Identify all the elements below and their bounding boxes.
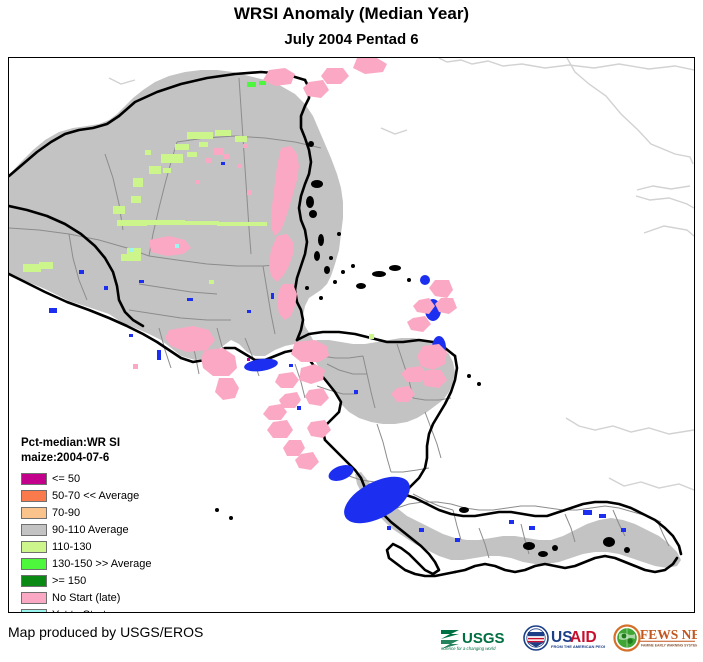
- legend-swatch-icon: [21, 592, 47, 604]
- usgs-logo[interactable]: USGS science for a changing world: [439, 624, 515, 652]
- legend-item[interactable]: Yet to Start: [21, 606, 211, 613]
- page-title: WRSI Anomaly (Median Year): [0, 4, 703, 24]
- legend-item-label: Yet to Start: [52, 609, 106, 614]
- usgs-logo-tagline: science for a changing world: [441, 646, 496, 651]
- legend-swatch-icon: [21, 541, 47, 553]
- map-page: WRSI Anomaly (Median Year) July 2004 Pen…: [0, 0, 703, 662]
- legend-item[interactable]: 130-150 >> Average: [21, 555, 211, 572]
- legend-item-label: >= 150: [52, 575, 86, 587]
- legend-swatch-icon: [21, 473, 47, 485]
- legend-title-line1: Pct-median:WR SI: [21, 436, 211, 451]
- legend-item[interactable]: 110-130: [21, 538, 211, 555]
- legend-item[interactable]: 50-70 << Average: [21, 487, 211, 504]
- legend-item[interactable]: No Start (late): [21, 589, 211, 606]
- fewsnet-globe-icon: [615, 626, 640, 651]
- legend-item[interactable]: <= 50: [21, 470, 211, 487]
- page-subtitle: July 2004 Pentad 6: [0, 31, 703, 48]
- legend-item-label: 110-130: [52, 541, 92, 553]
- legend-item-label: 90-110 Average: [52, 524, 129, 536]
- agency-logos: USGS science for a changing world US AID…: [439, 620, 697, 656]
- legend-item[interactable]: >= 150: [21, 572, 211, 589]
- usgs-logo-text: USGS: [462, 630, 505, 647]
- fewsnet-logo-text: FEWS NET: [640, 627, 697, 642]
- legend-swatch-icon: [21, 490, 47, 502]
- legend-item-label: 70-90: [52, 507, 80, 519]
- legend-swatch-icon: [21, 507, 47, 519]
- legend-swatch-icon: [21, 524, 47, 536]
- legend-item-label: 50-70 << Average: [52, 490, 139, 502]
- usaid-logo[interactable]: US AID FROM THE AMERICAN PEOPLE: [523, 624, 605, 652]
- fewsnet-logo-tagline: FAMINE EARLY WARNING SYSTEMS NETWORK: [641, 644, 697, 648]
- map-legend: Pct-median:WR SI maize:2004-07-6 <= 50 5…: [21, 436, 211, 613]
- usaid-logo-tagline: FROM THE AMERICAN PEOPLE: [551, 644, 605, 649]
- map-credit: Map produced by USGS/EROS: [8, 624, 203, 640]
- legend-item-label: 130-150 >> Average: [52, 558, 152, 570]
- fewsnet-logo[interactable]: FEWS NET FAMINE EARLY WARNING SYSTEMS NE…: [613, 623, 697, 653]
- legend-item[interactable]: 70-90: [21, 504, 211, 521]
- usaid-seal-icon: [524, 626, 548, 650]
- anomaly-le-50: [247, 358, 250, 361]
- legend-items: <= 50 50-70 << Average 70-90 90-110 Aver…: [21, 470, 211, 613]
- legend-item[interactable]: 90-110 Average: [21, 521, 211, 538]
- legend-item-label: <= 50: [52, 473, 80, 485]
- legend-swatch-icon: [21, 558, 47, 570]
- legend-title-line2: maize:2004-07-6: [21, 451, 211, 466]
- legend-swatch-icon: [21, 575, 47, 587]
- legend-item-label: No Start (late): [52, 592, 120, 604]
- legend-swatch-icon: [21, 609, 47, 614]
- map-canvas[interactable]: Pct-median:WR SI maize:2004-07-6 <= 50 5…: [8, 57, 695, 613]
